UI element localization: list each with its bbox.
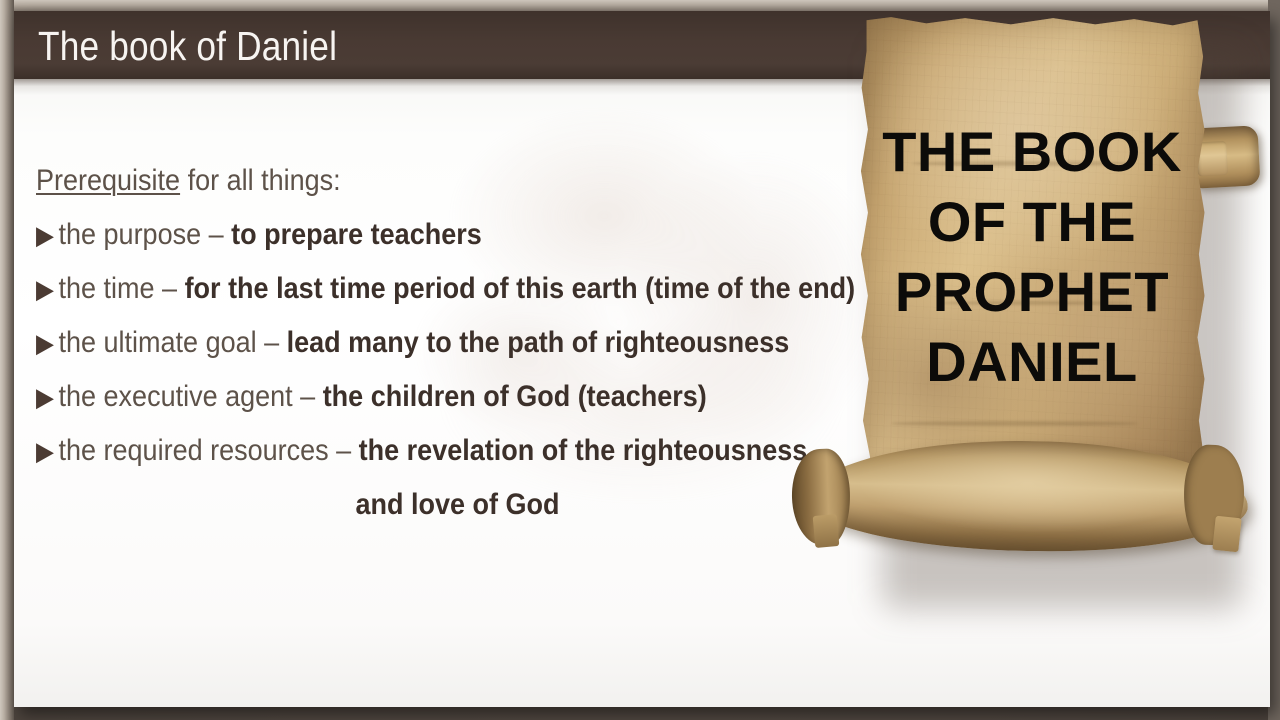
triangle-bullet-icon: ▶: [36, 319, 59, 367]
bullet-lead-text: the purpose –: [59, 218, 232, 251]
bullet-emphasis-text: lead many to the path of righteousness: [287, 326, 790, 359]
bullet-item-purpose: ▶the purpose – to prepare teachers: [36, 211, 783, 265]
bullet-lead-text: the time –: [59, 272, 185, 305]
bullet-item-ultimate-goal: ▶the ultimate goal – lead many to the pa…: [36, 319, 783, 373]
bullet-emphasis-text: for the last time period of this earth (…: [185, 272, 856, 305]
bullet-emphasis-text: the revelation of the righteousness: [359, 434, 808, 467]
page-title: The book of Daniel: [38, 17, 337, 75]
slide-canvas: The book of Daniel Prerequisite for all …: [14, 11, 1270, 707]
triangle-bullet-icon: ▶: [36, 373, 59, 421]
scroll-title-line-2: OF THE: [854, 187, 1210, 257]
scroll-bottom-roll-left-tab: [813, 514, 840, 548]
frame-bevel-left: [0, 0, 14, 720]
bullet-item-required-resources: ▶the required resources – the revelation…: [36, 427, 783, 481]
bullet-lead-text: the ultimate goal –: [59, 326, 287, 359]
bullet-emphasis-text: to prepare teachers: [231, 218, 482, 251]
bullet-lead-text: the executive agent –: [59, 380, 323, 413]
bullet-item-executive-agent: ▶the executive agent – the children of G…: [36, 373, 783, 427]
prerequisite-heading: Prerequisite for all things:: [36, 157, 783, 211]
scroll-illustration: THE BOOK OF THE PROPHET DANIEL: [786, 11, 1270, 639]
bullet-item-time: ▶the time – for the last time period of …: [36, 265, 783, 319]
prerequisite-rest-text: for all things:: [180, 164, 341, 197]
bullet-continuation-line: and love of God: [36, 481, 783, 535]
scroll-bottom-roll-right-tab: [1212, 516, 1241, 553]
scroll-title-line-1: THE BOOK: [854, 117, 1210, 187]
parchment-crease: [891, 421, 1137, 426]
prerequisite-underlined-text: Prerequisite: [36, 164, 180, 197]
bullet-continuation-text: and love of God: [356, 488, 560, 521]
triangle-bullet-icon: ▶: [36, 211, 59, 259]
bullet-emphasis-text: the children of God (teachers): [323, 380, 707, 413]
bullet-lead-text: the required resources –: [59, 434, 359, 467]
scroll-title-line-4: DANIEL: [854, 327, 1210, 397]
scroll-title-text: THE BOOK OF THE PROPHET DANIEL: [854, 117, 1210, 397]
triangle-bullet-icon: ▶: [36, 265, 59, 313]
triangle-bullet-icon: ▶: [36, 427, 59, 475]
scroll-title-line-3: PROPHET: [854, 257, 1210, 327]
slide-body: Prerequisite for all things: ▶the purpos…: [36, 157, 866, 535]
presentation-frame: The book of Daniel Prerequisite for all …: [0, 0, 1280, 720]
